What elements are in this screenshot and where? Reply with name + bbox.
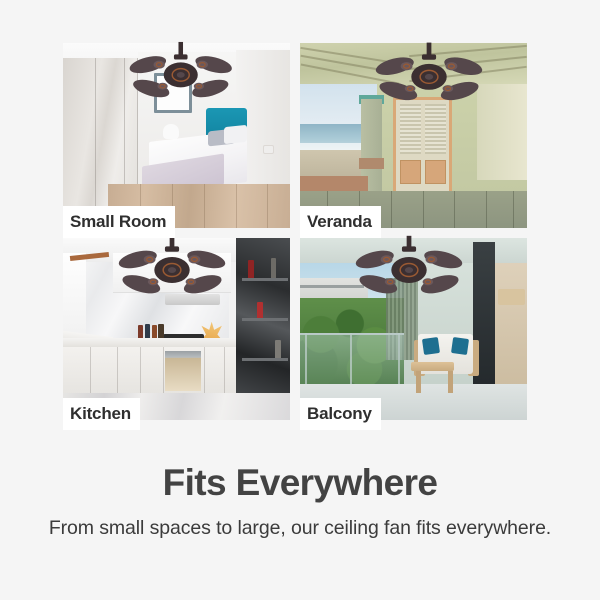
- room-photo-veranda: [300, 43, 527, 228]
- gallery-tile-small-room[interactable]: Small Room: [63, 43, 290, 228]
- room-photo-kitchen: [63, 238, 290, 420]
- tile-label-veranda: Veranda: [300, 206, 381, 238]
- room-photo-small-room: [63, 43, 290, 228]
- tile-label-small-room: Small Room: [63, 206, 175, 238]
- room-gallery-grid: Small Room: [63, 43, 527, 420]
- gallery-tile-kitchen[interactable]: Kitchen: [63, 238, 290, 420]
- tile-label-balcony: Balcony: [300, 398, 381, 430]
- product-feature-card: Small Room: [0, 0, 600, 600]
- gallery-tile-veranda[interactable]: Veranda: [300, 43, 527, 228]
- gallery-tile-balcony[interactable]: Balcony: [300, 238, 527, 420]
- room-photo-balcony: [300, 238, 527, 420]
- tile-label-kitchen: Kitchen: [63, 398, 140, 430]
- caption-block: Fits Everywhere From small spaces to lar…: [0, 462, 600, 543]
- page-subtitle: From small spaces to large, our ceiling …: [0, 514, 600, 543]
- page-title: Fits Everywhere: [0, 462, 600, 503]
